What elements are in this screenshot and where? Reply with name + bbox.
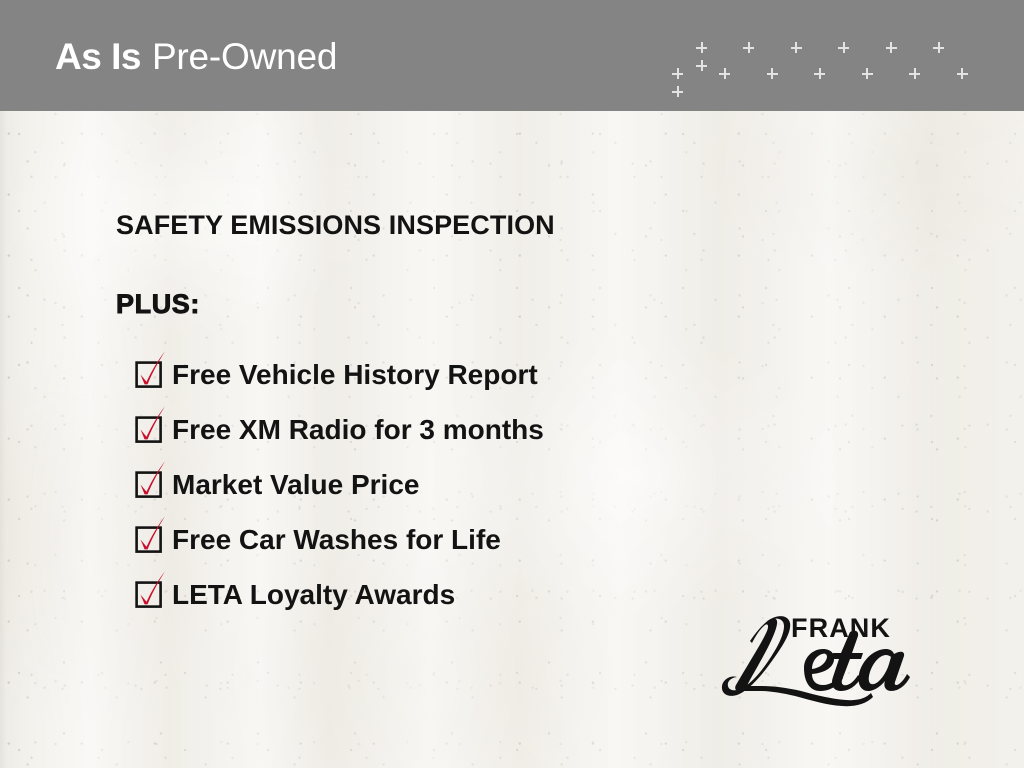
list-item-label: Free Vehicle History Report <box>172 359 538 391</box>
logo-top-word-text: FRANK <box>791 613 891 643</box>
benefits-checklist: Free Vehicle History Report Free XM Radi… <box>136 347 876 622</box>
list-item: Free Vehicle History Report <box>136 347 876 402</box>
plus-mark-icon <box>672 68 683 79</box>
checked-checkbox-icon <box>136 582 161 607</box>
plus-mark-icon <box>909 68 920 79</box>
list-item-label: LETA Loyalty Awards <box>172 579 455 611</box>
plus-decoration-row-top <box>672 42 1008 56</box>
list-item: Free XM Radio for 3 months <box>136 402 876 457</box>
checked-checkbox-icon <box>136 472 161 497</box>
slide-canvas: As IsPre-Owned <box>0 0 1024 768</box>
plus-mark-icon <box>838 42 849 53</box>
plus-mark-icon <box>814 68 825 79</box>
plus-decoration-row-bottom <box>672 68 1008 82</box>
plus-mark-icon <box>719 68 730 79</box>
frank-leta-logo: FRANK <box>700 608 915 718</box>
plus-mark-icon <box>743 42 754 53</box>
plus-subheading: PLUS: <box>116 289 876 320</box>
checked-checkbox-icon <box>136 362 161 387</box>
slide-body: SAFETY EMISSIONS INSPECTION PLUS: Free V… <box>116 210 876 622</box>
header-bar: As IsPre-Owned <box>0 0 1024 111</box>
checked-checkbox-icon <box>136 527 161 552</box>
list-item-label: Free XM Radio for 3 months <box>172 414 544 446</box>
checked-checkbox-icon <box>136 417 161 442</box>
plus-mark-icon <box>862 68 873 79</box>
section-heading: SAFETY EMISSIONS INSPECTION <box>116 210 876 241</box>
list-item: Free Car Washes for Life <box>136 512 876 567</box>
plus-mark-icon <box>672 86 683 97</box>
page-title: As IsPre-Owned <box>55 38 337 75</box>
plus-mark-icon <box>696 42 707 53</box>
plus-mark-icon <box>957 68 968 79</box>
plus-decoration-group <box>672 42 1008 88</box>
plus-mark-icon <box>933 42 944 53</box>
plus-mark-icon <box>886 42 897 53</box>
list-item: Market Value Price <box>136 457 876 512</box>
list-item-label: Free Car Washes for Life <box>172 524 501 556</box>
plus-mark-icon <box>767 68 778 79</box>
page-title-regular: Pre-Owned <box>152 36 337 77</box>
page-title-emphasis: As Is <box>55 36 141 77</box>
plus-mark-icon <box>791 42 802 53</box>
list-item-label: Market Value Price <box>172 469 419 501</box>
